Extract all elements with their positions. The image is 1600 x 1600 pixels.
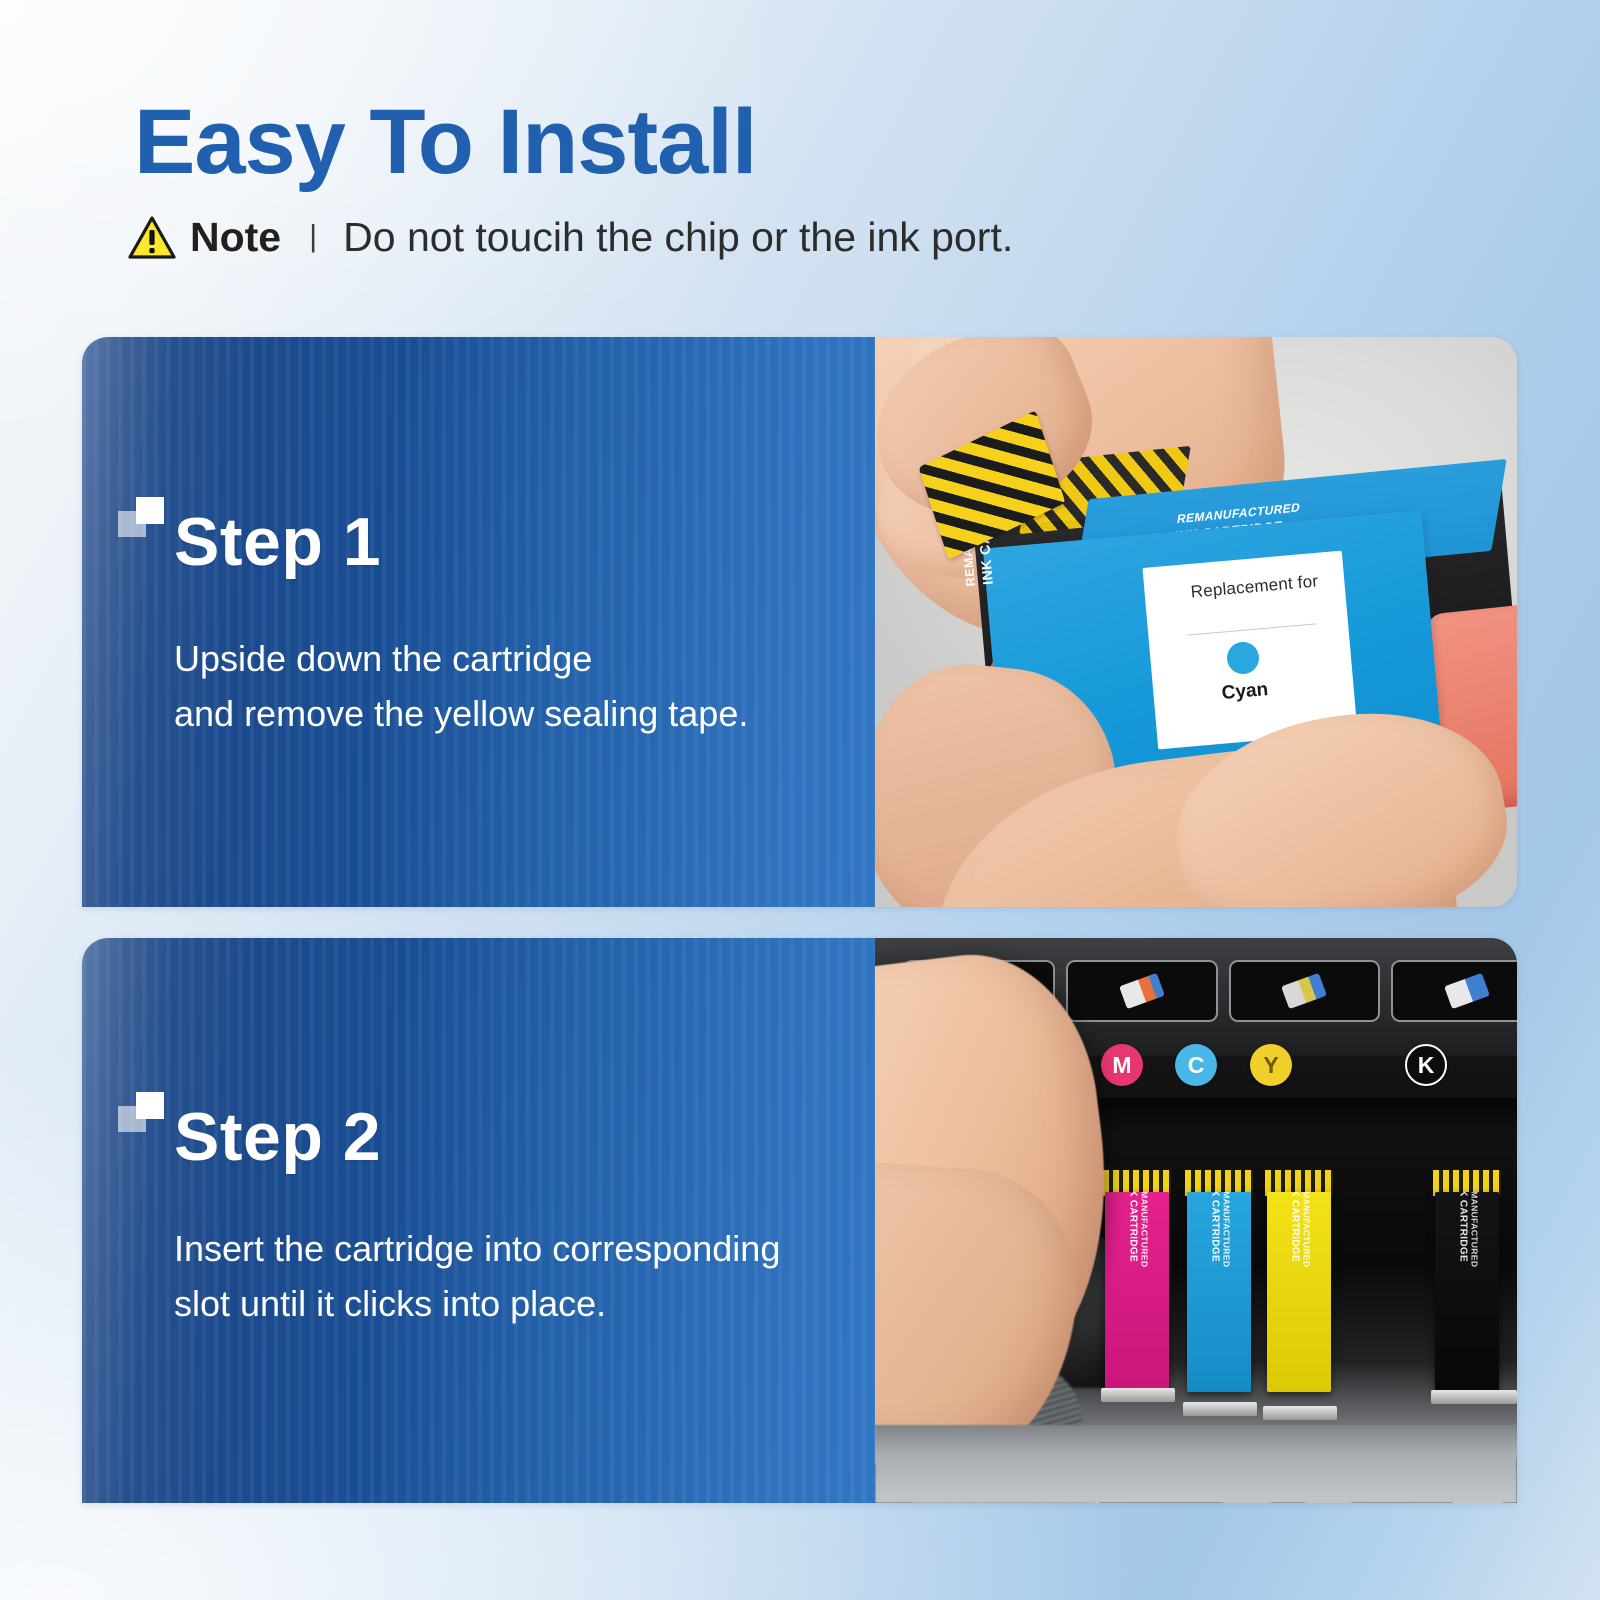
cartridge-magenta: REMANUFACTUREDINK CARTRIDGE — [1105, 1192, 1169, 1392]
step-2-description: Insert the cartridge into corresponding … — [174, 1222, 780, 1331]
cartridge-base-magenta — [1101, 1388, 1175, 1402]
step-2-title: Step 2 — [174, 1103, 381, 1171]
step-1-description: Upside down the cartridge and remove the… — [174, 632, 748, 741]
step-1-line-2: and remove the yellow sealing tape. — [174, 687, 748, 742]
note-row: Note | Do not toucih the chip or the ink… — [128, 214, 1013, 261]
note-text: Do not toucih the chip or the ink port. — [343, 214, 1013, 261]
printer-base-bar — [875, 1425, 1517, 1503]
step-card-1: REMANUFACTURED INK CARTRIDGE REMANUFACTU… — [82, 337, 1517, 907]
step-card-2: M C Y K REMANUFACTUREDINK CARTRIDGE REMA… — [82, 938, 1517, 1503]
step-2-line-2: slot until it clicks into place. — [174, 1277, 780, 1332]
color-indicator-black: K — [1405, 1044, 1447, 1086]
color-indicator-magenta: M — [1101, 1044, 1143, 1086]
cartridge-base-cyan — [1183, 1402, 1257, 1416]
step-2-photo: M C Y K REMANUFACTUREDINK CARTRIDGE REMA… — [875, 938, 1517, 1503]
step-2-text-panel — [82, 938, 875, 1503]
slot-diagram-4 — [1391, 960, 1517, 1022]
cartridge-cyan: REMANUFACTUREDINK CARTRIDGE — [1187, 1192, 1251, 1392]
color-indicator-yellow: Y — [1250, 1044, 1292, 1086]
note-label: Note — [190, 214, 281, 261]
cartridge-black-label-line1: REMANUFACTURED — [1469, 1192, 1480, 1369]
cartridge-base-yellow — [1263, 1406, 1337, 1420]
cartridge-yellow-label-line1: REMANUFACTURED — [1301, 1192, 1312, 1369]
step-1-title: Step 1 — [174, 508, 381, 576]
cartridge-cyan-label-line2: INK CARTRIDGE — [1210, 1192, 1221, 1262]
color-indicator-cyan: C — [1175, 1044, 1217, 1086]
warning-triangle-icon — [128, 216, 176, 260]
slot-diagram-3 — [1229, 960, 1381, 1022]
step-2-line-1: Insert the cartridge into corresponding — [174, 1222, 780, 1277]
slot-diagram-2 — [1066, 960, 1218, 1022]
cartridge-yellow-label-line2: INK CARTRIDGE — [1290, 1192, 1301, 1262]
step-1-bullet-icon — [118, 497, 164, 537]
step-1-line-1: Upside down the cartridge — [174, 632, 748, 687]
page-title: Easy To Install — [134, 96, 756, 188]
cartridge-magenta-label-line2: INK CARTRIDGE — [1128, 1192, 1139, 1262]
step-1-text-panel — [82, 337, 875, 907]
cartridge-black-label-line2: INK CARTRIDGE — [1458, 1192, 1469, 1262]
cartridge-yellow: REMANUFACTUREDINK CARTRIDGE — [1267, 1192, 1331, 1392]
step-2-bullet-icon — [118, 1092, 164, 1132]
step-1-photo: REMANUFACTURED INK CARTRIDGE REMANUFACTU… — [875, 337, 1517, 907]
cartridge-cyan-label-line1: REMANUFACTURED — [1221, 1192, 1232, 1369]
cartridge-base-black — [1431, 1390, 1517, 1404]
cartridge-magenta-label-line1: REMANUFACTURED — [1139, 1192, 1150, 1369]
note-separator: | — [309, 218, 317, 254]
cartridge-black: REMANUFACTUREDINK CARTRIDGE — [1435, 1192, 1499, 1392]
